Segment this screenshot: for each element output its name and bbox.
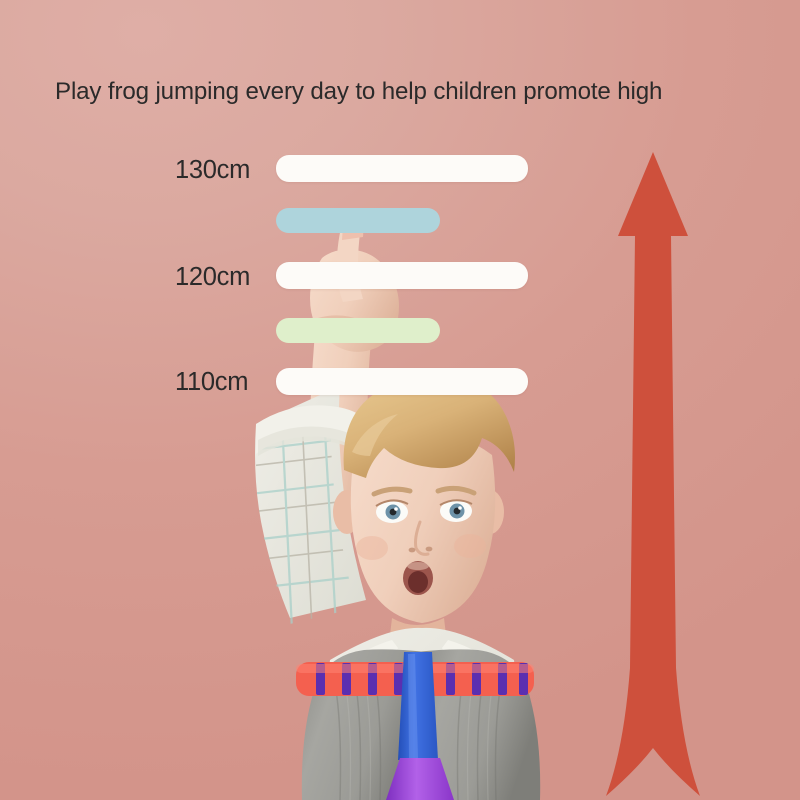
child-head — [333, 375, 515, 659]
ruler-bar-120 — [276, 262, 528, 289]
ruler-bar-130 — [276, 155, 528, 182]
ruler-label-110: 110cm — [175, 368, 265, 397]
ruler-bar-125 — [276, 208, 440, 233]
ruler-label-130: 130cm — [175, 156, 265, 185]
ruler-bar-110 — [276, 368, 528, 395]
page-title: Play frog jumping every day to help chil… — [55, 78, 754, 106]
upward-growth-arrow-icon — [590, 148, 710, 800]
ruler-label-120: 120cm — [175, 263, 265, 292]
ruler-bar-115 — [276, 318, 440, 343]
promo-image: Play frog jumping every day to help chil… — [0, 0, 800, 800]
